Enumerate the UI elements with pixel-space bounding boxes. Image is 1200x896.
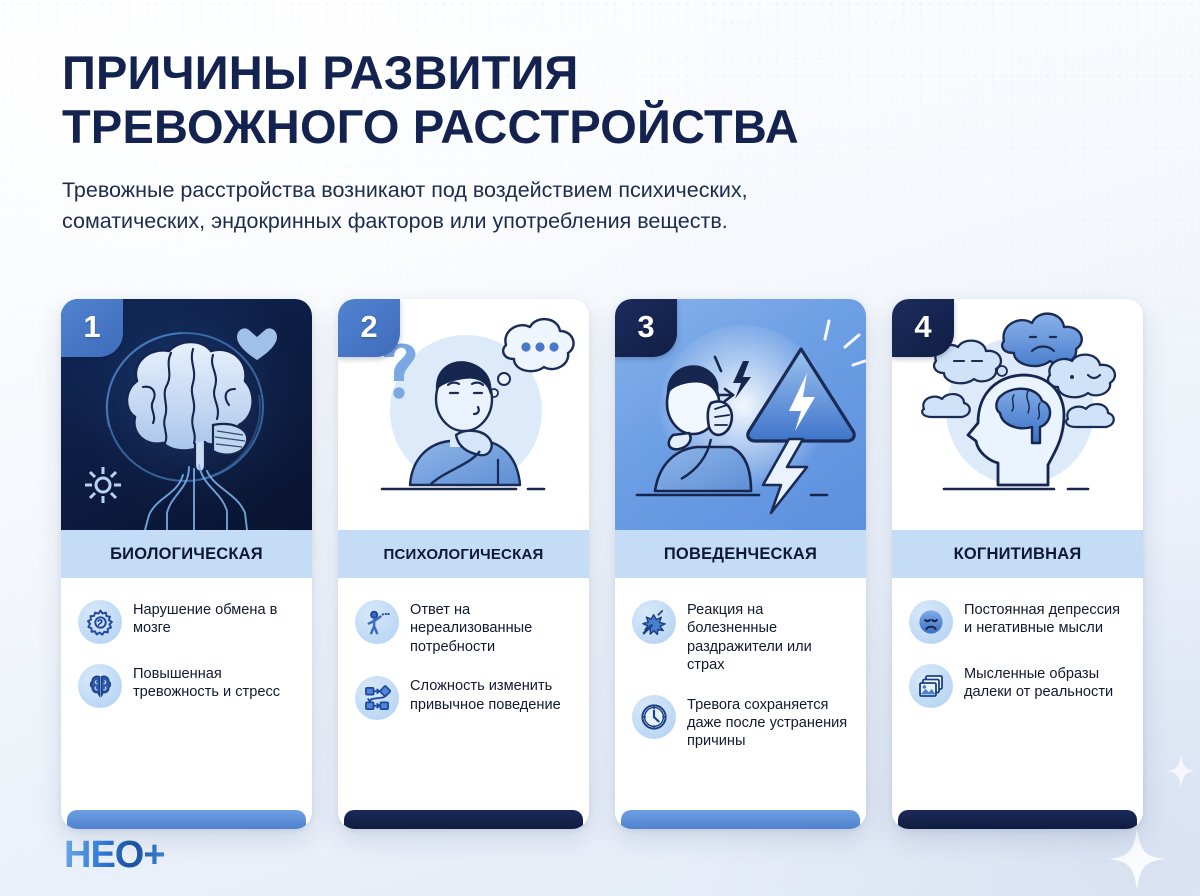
card-number-badge: 3 [615,299,677,357]
cards-row: 1 БИОЛОГИЧЕСКАЯ Нарушение обмена в мозге [61,299,1143,829]
card-title-band: ПСИХОЛОГИЧЕСКАЯ [338,530,589,578]
clock-icon [632,695,676,739]
card-number-badge: 1 [61,299,123,357]
small-cloud-left-icon [922,394,970,417]
title-line-1: ПРИЧИНЫ РАЗВИТИЯ [62,46,1122,100]
page-title: ПРИЧИНЫ РАЗВИТИЯ ТРЕВОЖНОГО РАССТРОЙСТВА [62,46,1122,153]
gear-metabolism-icon [78,600,122,644]
card-title-band: ПОВЕДЕНЧЕСКАЯ [615,530,866,578]
card-biological[interactable]: 1 БИОЛОГИЧЕСКАЯ Нарушение обмена в мозге [61,299,312,829]
card-hero-image: 2 [338,299,589,530]
impact-burst-icon [632,600,676,644]
card-psychological[interactable]: 2 ПСИХОЛОГИЧЕСКАЯ [338,299,589,829]
infographic-canvas: ПРИЧИНЫ РАЗВИТИЯ ТРЕВОЖНОГО РАССТРОЙСТВА… [0,0,1200,896]
card-bullet-list: Ответ на нереализованные потребности [338,578,589,829]
card-bullet-list: Нарушение обмена в мозге [61,578,312,829]
list-item-text: Постоянная депрессия и негативные мысли [964,600,1127,638]
list-item-text: Тревога сохраняется даже после устранени… [687,695,850,751]
card-hero-image: 3 [615,299,866,530]
header: ПРИЧИНЫ РАЗВИТИЯ ТРЕВОЖНОГО РАССТРОЙСТВА… [62,46,1122,236]
card-accent-bar [898,810,1137,829]
page-subtitle: Тревожные расстройства возникают под воз… [62,175,1022,236]
card-title: ПОВЕДЕНЧЕСКАЯ [664,545,817,564]
person-reaching-icon [355,600,399,644]
card-title: ПСИХОЛОГИЧЕСКАЯ [384,546,544,563]
flowchart-icon [355,676,399,720]
list-item[interactable]: Сложность изменить привычное поведение [355,676,573,720]
list-item-text: Ответ на нереализованные потребности [410,600,573,656]
card-accent-bar [621,810,860,829]
sparkle-icon [1108,828,1166,890]
card-hero-image: 4 [892,299,1143,530]
brand-logo: НЕО+ [64,836,165,874]
card-number-badge: 2 [338,299,400,357]
card-number-badge: 4 [892,299,954,357]
card-bullet-list: Постоянная депрессия и негативные мысли … [892,578,1143,829]
subtitle-line-1: Тревожные расстройства возникают под воз… [62,175,1022,206]
list-item-text: Нарушение обмена в мозге [133,600,296,638]
brain-icon [78,664,122,708]
list-item-text: Мысленные образы далеки от реальности [964,664,1127,702]
card-title: БИОЛОГИЧЕСКАЯ [110,545,263,564]
list-item-text: Сложность изменить привычное поведение [410,676,573,714]
sparkle-small-icon [1166,754,1196,788]
card-title: КОГНИТИВНАЯ [954,545,1082,564]
list-item[interactable]: Постоянная депрессия и негативные мысли [909,600,1127,644]
list-item[interactable]: Нарушение обмена в мозге [78,600,296,644]
sad-face-icon [909,600,953,644]
card-accent-bar [67,810,306,829]
card-accent-bar [344,810,583,829]
card-bullet-list: Реакция на болезненные раздражители или … [615,578,866,829]
card-cognitive[interactable]: 4 КОГНИТИВНАЯ [892,299,1143,829]
card-title-band: КОГНИТИВНАЯ [892,530,1143,578]
card-behavioral[interactable]: 3 ПОВЕДЕНЧЕСКАЯ Реакция на болезненные р… [615,299,866,829]
photos-icon [909,664,953,708]
card-hero-image: 1 [61,299,312,530]
card-title-band: БИОЛОГИЧЕСКАЯ [61,530,312,578]
list-item[interactable]: Повышенная тревожность и стресс [78,664,296,708]
list-item[interactable]: Ответ на нереализованные потребности [355,600,573,656]
small-cloud-right-icon [1066,404,1114,427]
list-item[interactable]: Мысленные образы далеки от реальности [909,664,1127,708]
title-line-2: ТРЕВОЖНОГО РАССТРОЙСТВА [62,100,1122,154]
list-item-text: Реакция на болезненные раздражители или … [687,600,850,675]
subtitle-line-2: соматических, эндокринных факторов или у… [62,206,1022,237]
list-item[interactable]: Тревога сохраняется даже после устранени… [632,695,850,751]
list-item-text: Повышенная тревожность и стресс [133,664,296,702]
list-item[interactable]: Реакция на болезненные раздражители или … [632,600,850,675]
